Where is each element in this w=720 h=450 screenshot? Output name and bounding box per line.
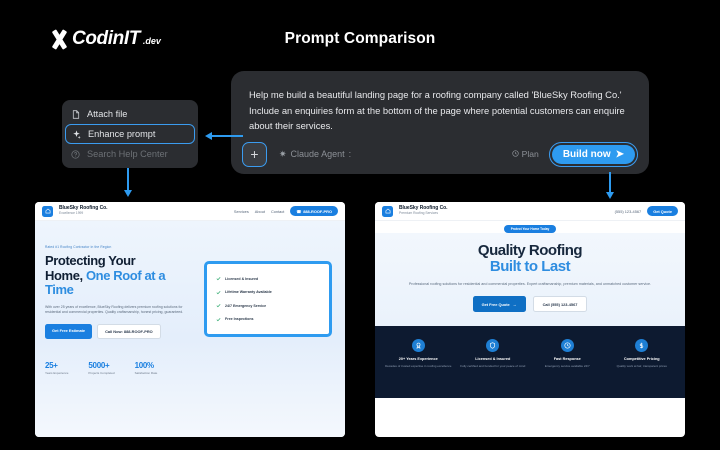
nav-phone-number[interactable]: (555) 123-4567 — [615, 209, 642, 214]
feature-label: Licensed & Insured — [225, 277, 258, 281]
headline-line-2: Home, — [45, 268, 83, 283]
prompt-input-text[interactable]: Help me build a beautiful landing page f… — [249, 87, 631, 134]
nav-link-services[interactable]: Services — [234, 209, 249, 214]
menu-item-attach-file[interactable]: Attach file — [62, 104, 198, 124]
feature-card: 20+ Years Experience Decades of trusted … — [381, 339, 456, 368]
hero-paragraph: With over 25 years of excellence, BlueSk… — [45, 305, 187, 316]
hero-badge: Rated #1 Roofing Contractor in the Regio… — [45, 245, 111, 249]
nav-link-contact[interactable]: Contact — [271, 209, 284, 214]
right-headline-accent: Built to Last — [393, 259, 667, 275]
agent-label: Claude Agent — [291, 149, 345, 159]
agent-selector[interactable]: ✷ Claude Agent : — [279, 149, 351, 160]
menu-item-search-help-center[interactable]: Search Help Center — [62, 144, 198, 164]
feature-label: 24/7 Emergency Service — [225, 304, 266, 308]
check-icon — [216, 317, 221, 322]
build-now-label: Build now — [563, 149, 611, 160]
feature-item: Free Inspections — [216, 317, 320, 322]
page-title: Prompt Comparison — [0, 30, 720, 48]
agent-suffix: : — [349, 149, 352, 159]
phone-icon: ☎ — [296, 209, 301, 214]
send-arrow-icon: ➤ — [616, 149, 624, 160]
feature-title: Competitive Pricing — [609, 357, 676, 361]
right-hero-buttons: Get Free Quote → Call (555) 123-4567 — [393, 296, 667, 312]
add-attachment-button[interactable]: + — [242, 142, 267, 167]
left-hero-section: Rated #1 Roofing Contractor in the Regio… — [35, 221, 345, 437]
left-feature-card: Licensed & Insured Lifetime Warranty Ava… — [204, 261, 332, 337]
promo-badge: Protect Your Home Today — [504, 225, 557, 233]
right-site-nav: BlueSky Roofing Co. Premium Roofing Serv… — [375, 202, 685, 221]
stat-item: 25+ Years Experience — [45, 361, 68, 375]
feature-item: 24/7 Emergency Service — [216, 303, 320, 308]
feature-card: Licensed & Insured Fully certified and b… — [456, 339, 531, 368]
shield-icon — [486, 339, 499, 352]
check-icon — [216, 290, 221, 295]
headline-line-1: Protecting Your — [45, 253, 135, 268]
plan-label: Plan — [522, 149, 539, 159]
brand-sub: Premium Roofing Services — [399, 212, 448, 216]
menu-item-enhance-prompt[interactable]: Enhance prompt — [65, 124, 195, 144]
get-quote-button[interactable]: Get Quote — [647, 206, 678, 216]
prompt-actions-menu: Attach file Enhance prompt Search Help C… — [62, 100, 198, 168]
call-phone-button[interactable]: Call (555) 123-4567 — [533, 296, 588, 312]
stat-label: Years Experience — [45, 371, 68, 375]
feature-label: Lifetime Warranty Available — [225, 290, 272, 294]
sparkle-icon: ✷ — [279, 149, 287, 160]
home-icon — [42, 206, 53, 217]
feature-desc: Decades of trusted expertise in roofing … — [385, 364, 452, 368]
nav-phone-button[interactable]: ☎ 888-ROOF-PRO — [290, 206, 338, 216]
feature-title: Licensed & Insured — [460, 357, 527, 361]
clock-icon — [561, 339, 574, 352]
arrow-right-icon: → — [513, 302, 517, 307]
home-icon — [382, 206, 393, 217]
preview-left[interactable]: BlueSky Roofing Co. Excellence 1999 Serv… — [35, 202, 345, 437]
right-hero-section: Quality Roofing Built to Last Profession… — [375, 233, 685, 326]
check-icon — [216, 276, 221, 281]
right-headline-main: Quality Roofing — [478, 242, 582, 259]
preview-right[interactable]: BlueSky Roofing Co. Premium Roofing Serv… — [375, 202, 685, 437]
get-free-estimate-button[interactable]: Get Free Estimate — [45, 324, 92, 339]
nav-cta-label: 888-ROOF-PRO — [303, 209, 332, 214]
help-circle-icon — [71, 150, 80, 159]
feature-item: Licensed & Insured — [216, 276, 320, 281]
build-now-button[interactable]: Build now ➤ — [549, 142, 638, 167]
stat-value: 25+ — [45, 361, 68, 370]
feature-desc: Fully certified and bonded for your peac… — [460, 364, 527, 368]
right-paragraph: Professional roofing solutions for resid… — [393, 281, 667, 287]
brand-sub: Excellence 1999 — [59, 212, 108, 216]
hero-headline: Protecting Your Home, One Roof at a Time — [45, 254, 195, 298]
get-free-quote-button[interactable]: Get Free Quote → — [473, 296, 526, 312]
plan-mode-toggle[interactable]: Plan — [512, 149, 539, 159]
clock-icon — [512, 149, 519, 159]
menu-label: Search Help Center — [87, 149, 168, 159]
prompt-toolbar: + ✷ Claude Agent : Plan Build now ➤ — [231, 134, 649, 174]
right-promo-row: Protect Your Home Today — [375, 221, 685, 233]
stat-value: 5000+ — [88, 361, 114, 370]
right-headline: Quality Roofing Built to Last — [393, 243, 667, 275]
quote-label: Get Free Quote — [482, 302, 510, 307]
stat-label: Satisfaction Rate — [135, 371, 158, 375]
hero-buttons: Get Free Estimate Call Now: 888-ROOF-PRO — [45, 324, 195, 339]
award-icon — [412, 339, 425, 352]
stat-value: 100% — [135, 361, 158, 370]
stat-label: Projects Completed — [88, 371, 114, 375]
feature-card: Competitive Pricing Quality work at fair… — [605, 339, 680, 368]
feature-title: Fast Response — [534, 357, 601, 361]
left-hero-copy: Rated #1 Roofing Contractor in the Regio… — [45, 235, 195, 437]
check-icon — [216, 303, 221, 308]
feature-card: Fast Response Emergency service availabl… — [530, 339, 605, 368]
stat-item: 5000+ Projects Completed — [88, 361, 114, 375]
menu-label: Enhance prompt — [88, 129, 155, 139]
hero-stats: 25+ Years Experience 5000+ Projects Comp… — [45, 361, 195, 375]
right-brand: BlueSky Roofing Co. Premium Roofing Serv… — [399, 206, 448, 216]
left-brand: BlueSky Roofing Co. Excellence 1999 — [59, 206, 108, 216]
prompt-card: Help me build a beautiful landing page f… — [231, 71, 649, 174]
feature-desc: Quality work at fair, transparent prices — [609, 364, 676, 368]
right-features-section: 20+ Years Experience Decades of trusted … — [375, 326, 685, 398]
feature-desc: Emergency service available 24/7 — [534, 364, 601, 368]
dollar-icon — [635, 339, 648, 352]
call-now-button[interactable]: Call Now: 888-ROOF-PRO — [97, 324, 161, 339]
feature-label: Free Inspections — [225, 317, 254, 321]
menu-label: Attach file — [87, 109, 127, 119]
feature-title: 20+ Years Experience — [385, 357, 452, 361]
sparkle-icon — [72, 130, 81, 139]
left-site-nav: BlueSky Roofing Co. Excellence 1999 Serv… — [35, 202, 345, 221]
feature-item: Lifetime Warranty Available — [216, 290, 320, 295]
nav-link-about[interactable]: About — [255, 209, 265, 214]
stat-item: 100% Satisfaction Rate — [135, 361, 158, 375]
attach-file-icon — [71, 110, 80, 119]
plus-icon: + — [250, 147, 258, 161]
